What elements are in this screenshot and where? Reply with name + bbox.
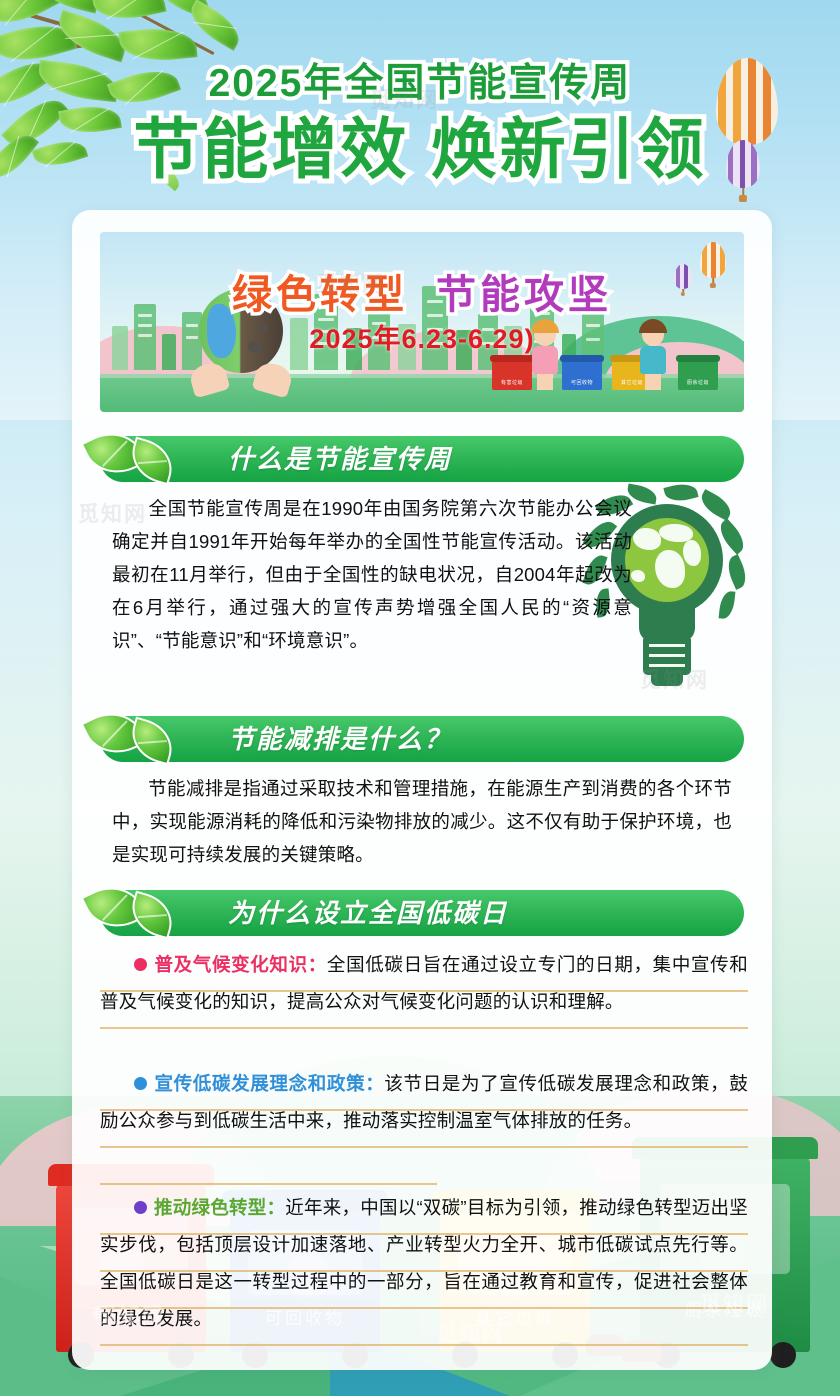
bin-lid <box>560 355 604 362</box>
headline-top: 2025年全国节能宣传周 <box>0 52 840 108</box>
rule-line <box>100 1183 437 1185</box>
section-body-text: 全国节能宣传周是在1990年由国务院第六次节能办公会议确定并自1991年开始每年… <box>112 498 632 651</box>
leaf-icon <box>86 708 196 766</box>
section-header-what-is-saving: 节能减排是什么？ <box>100 716 744 762</box>
section-title: 为什么设立全国低碳日 <box>228 890 508 936</box>
section-title: 节能减排是什么？ <box>228 716 452 762</box>
bullet-text: 宣传低碳发展理念和政策：该节日是为了宣传低碳发展理念和政策，鼓励公众参与到低碳生… <box>100 1065 748 1139</box>
bullet-item-low-carbon-policy: 宣传低碳发展理念和政策：该节日是为了宣传低碳发展理念和政策，鼓励公众参与到低碳生… <box>100 1065 748 1183</box>
continent <box>631 570 645 582</box>
rule-line <box>100 1146 748 1148</box>
bullet-text: 推动绿色转型：近年来，中国以“双碳”目标为引领，推动绿色转型迈出坚实步伐，包括顶… <box>100 1189 748 1337</box>
bullet-lead: 宣传低碳发展理念和政策： <box>154 1073 384 1094</box>
theme-banner: 有害垃圾 可回收物 其它垃圾 厨余垃圾 绿色转型节能攻坚 2025年6.23-6… <box>100 232 744 412</box>
balloon-rope <box>742 188 744 195</box>
banner-bin-kitchen: 厨余垃圾 <box>678 360 718 390</box>
section-header-what-is-week: 什么是节能宣传周 <box>100 436 744 482</box>
section-body-what-is-saving: 节能减排是指通过采取技术和管理措施，在能源生产到消费的各个环节中，实现能源消耗的… <box>112 772 732 871</box>
foliage <box>663 480 698 504</box>
bullet-list: 普及气候变化知识：全国低碳日旨在通过设立专门的日期，集中宣传和普及气候变化的知识… <box>100 946 748 1349</box>
bullet-item-climate-knowledge: 普及气候变化知识：全国低碳日旨在通过设立专门的日期，集中宣传和普及气候变化的知识… <box>100 946 748 1061</box>
rule-line <box>100 1027 748 1029</box>
foliage <box>723 554 751 590</box>
leaf-shape <box>126 891 179 940</box>
rule-line <box>100 1344 748 1346</box>
bullet-lead: 推动绿色转型： <box>154 1197 285 1218</box>
bin-label: 可回收物 <box>562 379 602 386</box>
bulb-ring <box>649 654 685 657</box>
balloon-basket <box>739 195 747 202</box>
bulb-tip <box>651 672 683 686</box>
headline-main: 节能增效 焕新引领 <box>0 114 840 185</box>
leaf-icon <box>86 882 196 940</box>
section-header-why-low-carbon-day: 为什么设立全国低碳日 <box>100 890 744 936</box>
foliage <box>719 590 736 619</box>
bulb-ring <box>649 644 685 647</box>
kid-legs <box>537 374 553 390</box>
continent <box>655 550 685 588</box>
poster-headline: 2025年全国节能宣传周 节能增效 焕新引领 <box>0 52 840 185</box>
banner-bin-recyclable: 可回收物 <box>562 360 602 390</box>
bin-lid <box>490 355 534 362</box>
bullet-lead: 普及气候变化知识： <box>154 954 327 975</box>
bullet-dot <box>134 958 147 971</box>
banner-slogan-left: 绿色转型 <box>232 273 408 317</box>
bin-lid <box>676 355 720 362</box>
section-body-what-is-week: 全国节能宣传周是在1990年由国务院第六次节能办公会议确定并自1991年开始每年… <box>112 492 632 657</box>
kid-legs <box>645 374 661 390</box>
content-card: 有害垃圾 可回收物 其它垃圾 厨余垃圾 绿色转型节能攻坚 2025年6.23-6… <box>72 210 772 1370</box>
leaf-shape <box>126 437 179 486</box>
bin-label: 厨余垃圾 <box>678 379 718 386</box>
bullet-text: 普及气候变化知识：全国低碳日旨在通过设立专门的日期，集中宣传和普及气候变化的知识… <box>100 946 748 1020</box>
bulb-ring <box>649 664 685 667</box>
continent <box>683 540 701 566</box>
bin-wheel <box>770 1342 796 1368</box>
continent <box>659 524 693 542</box>
banner-slogan-right: 节能攻坚 <box>436 273 612 317</box>
leaf-shape <box>126 717 179 766</box>
bullet-dot <box>134 1077 147 1090</box>
section-title: 什么是节能宣传周 <box>228 436 452 482</box>
bin-label: 有害垃圾 <box>492 379 532 386</box>
continent <box>633 528 661 550</box>
bulb-globe <box>625 518 709 602</box>
banner-slogan: 绿色转型节能攻坚 <box>100 262 744 320</box>
bulb-base <box>643 637 691 675</box>
banner-date-range: 2025年6.23-6.29) <box>100 317 744 356</box>
banner-bin-hazardous: 有害垃圾 <box>492 360 532 390</box>
leaf-icon <box>86 428 196 486</box>
bullet-item-green-transition: 推动绿色转型：近年来，中国以“双碳”目标为引领，推动绿色转型迈出坚实步伐，包括顶… <box>100 1189 748 1345</box>
bullet-dot <box>134 1201 147 1214</box>
section-body-text: 节能减排是指通过采取技术和管理措施，在能源生产到消费的各个环节中，实现能源消耗的… <box>112 778 732 865</box>
